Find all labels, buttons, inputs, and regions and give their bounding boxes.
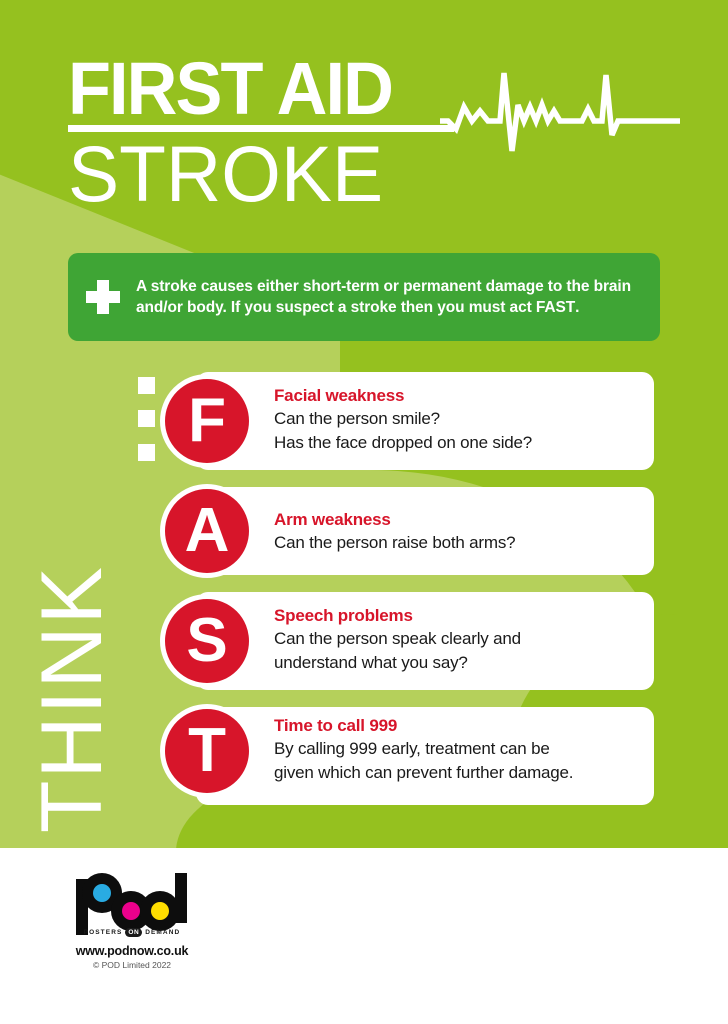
fast-card-title: Time to call 999	[274, 714, 654, 737]
footer-copyright: © POD Limited 2022	[52, 960, 212, 970]
think-colon-dots	[138, 377, 155, 461]
pod-logo-icon	[72, 873, 192, 935]
fast-card-title: Arm weakness	[274, 508, 654, 531]
fast-card-line: understand what you say?	[274, 651, 654, 675]
pod-logo	[72, 873, 192, 935]
first-aid-cross-icon	[86, 280, 120, 314]
fast-card-title: Speech problems	[274, 604, 654, 627]
fast-letter-badge-f: F	[160, 374, 254, 468]
fast-card-body: Facial weakness Can the person smile? Ha…	[274, 384, 654, 455]
fast-card-line: By calling 999 early, treatment can be	[274, 737, 654, 761]
tagline-on-pill: ON	[125, 928, 142, 937]
think-dot	[138, 410, 155, 427]
tagline-right: DEMAND	[145, 929, 180, 936]
footer-website-url[interactable]: www.podnow.co.uk	[52, 944, 212, 958]
fast-card-line: Can the person smile?	[274, 407, 654, 431]
tagline-left: POSTERS	[84, 929, 123, 936]
fast-card-line: Has the face dropped on one side?	[274, 431, 654, 455]
think-dot	[138, 377, 155, 394]
fast-card-body: Time to call 999 By calling 999 early, t…	[274, 714, 654, 785]
fast-letter-badge-t: T	[160, 704, 254, 798]
poster-root: FIRST AID STROKE A stroke causes either …	[0, 0, 728, 1024]
pod-logo-tagline: POSTERS ON DEMAND	[62, 928, 202, 937]
think-vertical-label: THINK	[29, 453, 115, 833]
heartbeat-ecg-icon	[440, 55, 680, 165]
think-dot	[138, 444, 155, 461]
fast-letter-badge-s: S	[160, 594, 254, 688]
fast-letter-badge-a: A	[160, 484, 254, 578]
fast-card-line: Can the person raise both arms?	[274, 531, 654, 555]
fast-card-title: Facial weakness	[274, 384, 654, 407]
poster-footer: POSTERS ON DEMAND www.podnow.co.uk © POD…	[0, 848, 728, 1024]
info-text-emphasis: FAST	[536, 299, 575, 316]
info-text-after: .	[575, 299, 579, 316]
page-subtitle-stroke: STROKE	[68, 133, 383, 215]
fast-card-line: Can the person speak clearly and	[274, 627, 654, 651]
fast-card-line: given which can prevent further damage.	[274, 761, 654, 785]
info-callout-text: A stroke causes either short-term or per…	[136, 276, 660, 318]
fast-card-body: Arm weakness Can the person raise both a…	[274, 508, 654, 555]
page-title-first-aid: FIRST AID	[68, 52, 392, 126]
fast-card-body: Speech problems Can the person speak cle…	[274, 604, 654, 675]
poster-header: FIRST AID STROKE	[0, 0, 728, 236]
info-callout-box: A stroke causes either short-term or per…	[68, 253, 660, 341]
